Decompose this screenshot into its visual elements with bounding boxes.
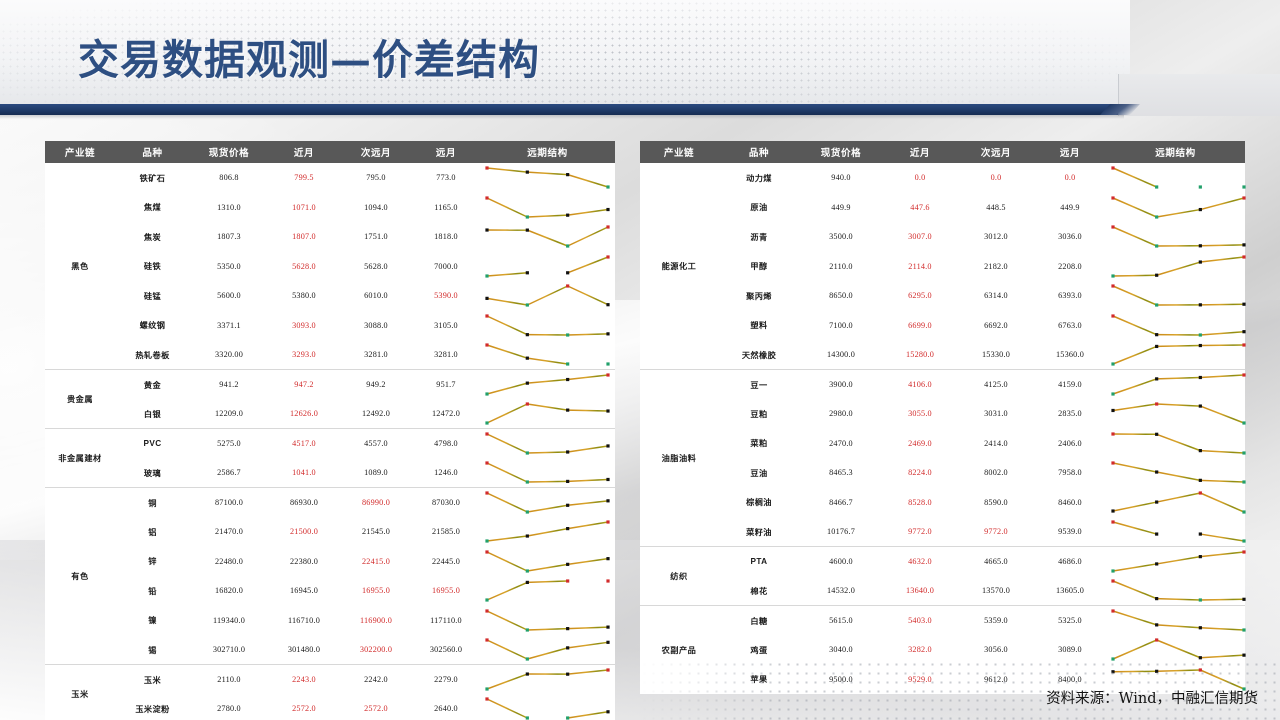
variety-cell: 黄金 [115, 370, 190, 400]
spot-price-cell: 2586.7 [190, 458, 268, 488]
table-row[interactable]: 豆油8465.38224.08002.07958.0 [640, 458, 1245, 488]
second-far-month-cell: 6010.0 [340, 281, 412, 311]
near-month-cell: 6699.0 [882, 311, 958, 341]
table-row[interactable]: 玉米玉米2110.02243.02242.02279.0 [45, 665, 615, 695]
far-month-cell: 6393.0 [1034, 281, 1106, 311]
variety-cell: 铁矿石 [115, 163, 190, 193]
far-month-cell: 449.9 [1034, 193, 1106, 223]
col-header-mid: 次远月 [340, 141, 412, 163]
forward-structure-sparkline [1106, 635, 1245, 665]
spot-price-cell: 5615.0 [800, 606, 882, 636]
second-far-month-cell: 13570.0 [958, 576, 1034, 606]
far-month-cell: 5325.0 [1034, 606, 1106, 636]
forward-structure-sparkline [480, 606, 615, 636]
far-month-cell: 1818.0 [412, 222, 480, 252]
second-far-month-cell: 8590.0 [958, 488, 1034, 518]
table-body-left: 黑色铁矿石806.8799.5795.0773.0焦煤1310.01071.01… [45, 163, 615, 720]
second-far-month-cell: 116900.0 [340, 606, 412, 636]
spot-price-cell: 302710.0 [190, 635, 268, 665]
table-row[interactable]: 热轧卷板3320.003293.03281.03281.0 [45, 340, 615, 370]
variety-cell: 菜粕 [718, 429, 800, 459]
near-month-cell: 2243.0 [268, 665, 340, 695]
industry-chain-cell: 非金属建材 [45, 429, 115, 488]
table-row[interactable]: 焦炭1807.31807.01751.01818.0 [45, 222, 615, 252]
industry-chain-cell: 纺织 [640, 547, 718, 606]
near-month-cell: 4517.0 [268, 429, 340, 459]
second-far-month-cell: 12492.0 [340, 399, 412, 429]
table-row[interactable]: 铝21470.021500.021545.021585.0 [45, 517, 615, 547]
source-note: 资料来源：Wind，中融汇信期货 [1046, 687, 1258, 708]
variety-cell: 棕榈油 [718, 488, 800, 518]
forward-structure-sparkline [1106, 576, 1245, 606]
spot-price-cell: 14300.0 [800, 340, 882, 370]
near-month-cell: 1071.0 [268, 193, 340, 223]
variety-cell: 铅 [115, 576, 190, 606]
variety-cell: 聚丙烯 [718, 281, 800, 311]
price-spread-table-right: 产业链 品种 现货价格 近月 次远月 远月 远期结构 能源化工动力煤940.00… [640, 141, 1245, 694]
table-body-right: 能源化工动力煤940.00.00.00.0原油449.9447.6448.544… [640, 163, 1245, 694]
table-row[interactable]: 塑料7100.06699.06692.06763.0 [640, 311, 1245, 341]
near-month-cell: 3282.0 [882, 635, 958, 665]
variety-cell: 动力煤 [718, 163, 800, 193]
variety-cell: 铝 [115, 517, 190, 547]
near-month-cell: 3093.0 [268, 311, 340, 341]
forward-structure-sparkline [1106, 547, 1245, 577]
far-month-cell: 16955.0 [412, 576, 480, 606]
second-far-month-cell: 1094.0 [340, 193, 412, 223]
col-header-forward-structure: 远期结构 [480, 141, 615, 163]
far-month-cell: 15360.0 [1034, 340, 1106, 370]
far-month-cell: 3105.0 [412, 311, 480, 341]
second-far-month-cell: 795.0 [340, 163, 412, 193]
far-month-cell: 951.7 [412, 370, 480, 400]
variety-cell: 硅铁 [115, 252, 190, 282]
second-far-month-cell: 2182.0 [958, 252, 1034, 282]
near-month-cell: 799.5 [268, 163, 340, 193]
far-month-cell: 2208.0 [1034, 252, 1106, 282]
variety-cell: 天然橡胶 [718, 340, 800, 370]
forward-structure-sparkline [480, 340, 615, 370]
table-row[interactable]: 菜籽油10176.79772.09772.09539.0 [640, 517, 1245, 547]
second-far-month-cell: 22415.0 [340, 547, 412, 577]
spot-price-cell: 1310.0 [190, 193, 268, 223]
variety-cell: 镍 [115, 606, 190, 636]
near-month-cell: 4632.0 [882, 547, 958, 577]
variety-cell: 白银 [115, 399, 190, 429]
col-header-chain: 产业链 [640, 141, 718, 163]
table-row[interactable]: 硅铁5350.05628.05628.07000.0 [45, 252, 615, 282]
table-row[interactable]: 能源化工动力煤940.00.00.00.0 [640, 163, 1245, 193]
far-month-cell: 7958.0 [1034, 458, 1106, 488]
forward-structure-sparkline [1106, 311, 1245, 341]
near-month-cell: 8224.0 [882, 458, 958, 488]
forward-structure-sparkline [480, 635, 615, 665]
spot-price-cell: 5275.0 [190, 429, 268, 459]
far-month-cell: 3281.0 [412, 340, 480, 370]
variety-cell: 硅锰 [115, 281, 190, 311]
spot-price-cell: 3371.1 [190, 311, 268, 341]
far-month-cell: 8460.0 [1034, 488, 1106, 518]
col-header-spot: 现货价格 [190, 141, 268, 163]
forward-structure-sparkline [1106, 252, 1245, 282]
variety-cell: 螺纹钢 [115, 311, 190, 341]
second-far-month-cell: 1751.0 [340, 222, 412, 252]
industry-chain-cell: 玉米 [45, 665, 115, 720]
header-step-block [1118, 74, 1280, 116]
forward-structure-sparkline [480, 222, 615, 252]
forward-structure-sparkline [480, 399, 615, 429]
second-far-month-cell: 4557.0 [340, 429, 412, 459]
variety-cell: PTA [718, 547, 800, 577]
forward-structure-sparkline [480, 547, 615, 577]
forward-structure-sparkline [1106, 193, 1245, 223]
near-month-cell: 86930.0 [268, 488, 340, 518]
variety-cell: 鸡蛋 [718, 635, 800, 665]
col-header-near: 近月 [882, 141, 958, 163]
second-far-month-cell: 3281.0 [340, 340, 412, 370]
table-row[interactable]: 有色铜87100.086930.086990.087030.0 [45, 488, 615, 518]
far-month-cell: 6763.0 [1034, 311, 1106, 341]
spot-price-cell: 14532.0 [800, 576, 882, 606]
variety-cell: 玉米淀粉 [115, 694, 190, 720]
spot-price-cell: 9500.0 [800, 665, 882, 695]
near-month-cell: 2114.0 [882, 252, 958, 282]
table-row[interactable]: 镍119340.0116710.0116900.0117110.0 [45, 606, 615, 636]
variety-cell: 甲醇 [718, 252, 800, 282]
variety-cell: 玻璃 [115, 458, 190, 488]
far-month-cell: 2835.0 [1034, 399, 1106, 429]
variety-cell: 锡 [115, 635, 190, 665]
table-row[interactable]: 纺织PTA4600.04632.04665.04686.0 [640, 547, 1245, 577]
table-row[interactable]: 天然橡胶14300.015280.015330.015360.0 [640, 340, 1245, 370]
spot-price-cell: 2110.0 [800, 252, 882, 282]
table-row[interactable]: 鸡蛋3040.03282.03056.03089.0 [640, 635, 1245, 665]
variety-cell: 沥青 [718, 222, 800, 252]
second-far-month-cell: 2572.0 [340, 694, 412, 720]
far-month-cell: 117110.0 [412, 606, 480, 636]
table-row[interactable]: 棉花14532.013640.013570.013605.0 [640, 576, 1245, 606]
second-far-month-cell: 15330.0 [958, 340, 1034, 370]
second-far-month-cell: 1089.0 [340, 458, 412, 488]
second-far-month-cell: 16955.0 [340, 576, 412, 606]
near-month-cell: 2572.0 [268, 694, 340, 720]
table-row[interactable]: 非金属建材PVC5275.04517.04557.04798.0 [45, 429, 615, 459]
col-header-variety: 品种 [718, 141, 800, 163]
spot-price-cell: 2980.0 [800, 399, 882, 429]
variety-cell: 豆一 [718, 370, 800, 400]
table-row[interactable]: 玉米淀粉2780.02572.02572.02640.0 [45, 694, 615, 720]
variety-cell: 棉花 [718, 576, 800, 606]
spot-price-cell: 3900.0 [800, 370, 882, 400]
far-month-cell: 2406.0 [1034, 429, 1106, 459]
forward-structure-sparkline [480, 311, 615, 341]
variety-cell: 焦炭 [115, 222, 190, 252]
forward-structure-sparkline [1106, 281, 1245, 311]
near-month-cell: 6295.0 [882, 281, 958, 311]
second-far-month-cell: 0.0 [958, 163, 1034, 193]
table-row[interactable]: 铅16820.016945.016955.016955.0 [45, 576, 615, 606]
second-far-month-cell: 5628.0 [340, 252, 412, 282]
forward-structure-sparkline [480, 665, 615, 695]
variety-cell: 热轧卷板 [115, 340, 190, 370]
page-title: 交易数据观测—价差结构 [78, 36, 540, 84]
far-month-cell: 9539.0 [1034, 517, 1106, 547]
col-header-variety: 品种 [115, 141, 190, 163]
forward-structure-sparkline [480, 429, 615, 459]
far-month-cell: 773.0 [412, 163, 480, 193]
second-far-month-cell: 21545.0 [340, 517, 412, 547]
table-row[interactable]: 螺纹钢3371.13093.03088.03105.0 [45, 311, 615, 341]
variety-cell: 玉米 [115, 665, 190, 695]
table-row[interactable]: 玻璃2586.71041.01089.01246.0 [45, 458, 615, 488]
second-far-month-cell: 2242.0 [340, 665, 412, 695]
table-row[interactable]: 硅锰5600.05380.06010.05390.0 [45, 281, 615, 311]
spot-price-cell: 2110.0 [190, 665, 268, 695]
forward-structure-sparkline [480, 193, 615, 223]
forward-structure-sparkline [1106, 163, 1245, 193]
far-month-cell: 13605.0 [1034, 576, 1106, 606]
spot-price-cell: 806.8 [190, 163, 268, 193]
far-month-cell: 4686.0 [1034, 547, 1106, 577]
near-month-cell: 4106.0 [882, 370, 958, 400]
industry-chain-cell: 黑色 [45, 163, 115, 370]
near-month-cell: 2469.0 [882, 429, 958, 459]
far-month-cell: 21585.0 [412, 517, 480, 547]
near-month-cell: 5380.0 [268, 281, 340, 311]
table-row[interactable]: 油脂油料豆一3900.04106.04125.04159.0 [640, 370, 1245, 400]
table-row[interactable]: 农副产品白糖5615.05403.05359.05325.0 [640, 606, 1245, 636]
spot-price-cell: 7100.0 [800, 311, 882, 341]
forward-structure-sparkline [1106, 340, 1245, 370]
spot-price-cell: 1807.3 [190, 222, 268, 252]
variety-cell: 铜 [115, 488, 190, 518]
near-month-cell: 9529.0 [882, 665, 958, 695]
spot-price-cell: 12209.0 [190, 399, 268, 429]
second-far-month-cell: 448.5 [958, 193, 1034, 223]
second-far-month-cell: 3056.0 [958, 635, 1034, 665]
near-month-cell: 1041.0 [268, 458, 340, 488]
spot-price-cell: 3500.0 [800, 222, 882, 252]
variety-cell: 苹果 [718, 665, 800, 695]
second-far-month-cell: 6692.0 [958, 311, 1034, 341]
second-far-month-cell: 3088.0 [340, 311, 412, 341]
spot-price-cell: 940.0 [800, 163, 882, 193]
table-header-right: 产业链 品种 现货价格 近月 次远月 远月 远期结构 [640, 141, 1245, 163]
spot-price-cell: 3320.00 [190, 340, 268, 370]
variety-cell: 豆油 [718, 458, 800, 488]
forward-structure-sparkline [1106, 458, 1245, 488]
near-month-cell: 0.0 [882, 163, 958, 193]
second-far-month-cell: 9772.0 [958, 517, 1034, 547]
near-month-cell: 947.2 [268, 370, 340, 400]
forward-structure-sparkline [480, 517, 615, 547]
forward-structure-sparkline [1106, 399, 1245, 429]
near-month-cell: 9772.0 [882, 517, 958, 547]
near-month-cell: 1807.0 [268, 222, 340, 252]
col-header-far: 远月 [412, 141, 480, 163]
table-row[interactable]: 沥青3500.03007.03012.03036.0 [640, 222, 1245, 252]
col-header-mid: 次远月 [958, 141, 1034, 163]
near-month-cell: 12626.0 [268, 399, 340, 429]
near-month-cell: 5403.0 [882, 606, 958, 636]
far-month-cell: 5390.0 [412, 281, 480, 311]
near-month-cell: 3055.0 [882, 399, 958, 429]
spot-price-cell: 8466.7 [800, 488, 882, 518]
far-month-cell: 1246.0 [412, 458, 480, 488]
table-row[interactable]: 锡302710.0301480.0302200.0302560.0 [45, 635, 615, 665]
variety-cell: 焦煤 [115, 193, 190, 223]
near-month-cell: 21500.0 [268, 517, 340, 547]
second-far-month-cell: 9612.0 [958, 665, 1034, 695]
spot-price-cell: 941.2 [190, 370, 268, 400]
far-month-cell: 302560.0 [412, 635, 480, 665]
forward-structure-sparkline [480, 370, 615, 400]
table-row[interactable]: 白银12209.012626.012492.012472.0 [45, 399, 615, 429]
near-month-cell: 3293.0 [268, 340, 340, 370]
spot-price-cell: 449.9 [800, 193, 882, 223]
second-far-month-cell: 4665.0 [958, 547, 1034, 577]
far-month-cell: 3089.0 [1034, 635, 1106, 665]
second-far-month-cell: 4125.0 [958, 370, 1034, 400]
spot-price-cell: 3040.0 [800, 635, 882, 665]
near-month-cell: 3007.0 [882, 222, 958, 252]
far-month-cell: 12472.0 [412, 399, 480, 429]
far-month-cell: 7000.0 [412, 252, 480, 282]
col-header-spot: 现货价格 [800, 141, 882, 163]
industry-chain-cell: 农副产品 [640, 606, 718, 695]
far-month-cell: 2640.0 [412, 694, 480, 720]
variety-cell: 锌 [115, 547, 190, 577]
forward-structure-sparkline [480, 163, 615, 193]
col-header-far: 远月 [1034, 141, 1106, 163]
forward-structure-sparkline [480, 281, 615, 311]
table-row[interactable]: 菜粕2470.02469.02414.02406.0 [640, 429, 1245, 459]
forward-structure-sparkline [1106, 517, 1245, 547]
table-header-left: 产业链 品种 现货价格 近月 次远月 远月 远期结构 [45, 141, 615, 163]
spot-price-cell: 8465.3 [800, 458, 882, 488]
table-row[interactable]: 原油449.9447.6448.5449.9 [640, 193, 1245, 223]
second-far-month-cell: 2414.0 [958, 429, 1034, 459]
spot-price-cell: 2470.0 [800, 429, 882, 459]
variety-cell: 白糖 [718, 606, 800, 636]
forward-structure-sparkline [480, 458, 615, 488]
variety-cell: PVC [115, 429, 190, 459]
far-month-cell: 87030.0 [412, 488, 480, 518]
spot-price-cell: 22480.0 [190, 547, 268, 577]
near-month-cell: 116710.0 [268, 606, 340, 636]
industry-chain-cell: 能源化工 [640, 163, 718, 370]
second-far-month-cell: 5359.0 [958, 606, 1034, 636]
second-far-month-cell: 8002.0 [958, 458, 1034, 488]
spot-price-cell: 10176.7 [800, 517, 882, 547]
forward-structure-sparkline [480, 694, 615, 720]
variety-cell: 菜籽油 [718, 517, 800, 547]
near-month-cell: 13640.0 [882, 576, 958, 606]
spot-price-cell: 4600.0 [800, 547, 882, 577]
far-month-cell: 3036.0 [1034, 222, 1106, 252]
near-month-cell: 8528.0 [882, 488, 958, 518]
table-row[interactable]: 甲醇2110.02114.02182.02208.0 [640, 252, 1245, 282]
far-month-cell: 4159.0 [1034, 370, 1106, 400]
spot-price-cell: 5350.0 [190, 252, 268, 282]
table-row[interactable]: 贵金属黄金941.2947.2949.2951.7 [45, 370, 615, 400]
forward-structure-sparkline [480, 252, 615, 282]
industry-chain-cell: 有色 [45, 488, 115, 665]
second-far-month-cell: 302200.0 [340, 635, 412, 665]
spot-price-cell: 16820.0 [190, 576, 268, 606]
col-header-chain: 产业链 [45, 141, 115, 163]
spot-price-cell: 119340.0 [190, 606, 268, 636]
near-month-cell: 447.6 [882, 193, 958, 223]
industry-chain-cell: 贵金属 [45, 370, 115, 429]
header-accent-rule [0, 104, 1118, 115]
table-row[interactable]: 锌22480.022380.022415.022445.0 [45, 547, 615, 577]
far-month-cell: 22445.0 [412, 547, 480, 577]
second-far-month-cell: 949.2 [340, 370, 412, 400]
near-month-cell: 16945.0 [268, 576, 340, 606]
col-header-near: 近月 [268, 141, 340, 163]
far-month-cell: 2279.0 [412, 665, 480, 695]
far-month-cell: 1165.0 [412, 193, 480, 223]
near-month-cell: 15280.0 [882, 340, 958, 370]
spot-price-cell: 5600.0 [190, 281, 268, 311]
second-far-month-cell: 3031.0 [958, 399, 1034, 429]
table-row[interactable]: 豆粕2980.03055.03031.02835.0 [640, 399, 1245, 429]
forward-structure-sparkline [480, 576, 615, 606]
forward-structure-sparkline [1106, 606, 1245, 636]
forward-structure-sparkline [1106, 429, 1245, 459]
table-row[interactable]: 黑色铁矿石806.8799.5795.0773.0 [45, 163, 615, 193]
near-month-cell: 22380.0 [268, 547, 340, 577]
col-header-forward-structure: 远期结构 [1106, 141, 1245, 163]
table-row[interactable]: 聚丙烯8650.06295.06314.06393.0 [640, 281, 1245, 311]
forward-structure-sparkline [1106, 222, 1245, 252]
spot-price-cell: 2780.0 [190, 694, 268, 720]
second-far-month-cell: 86990.0 [340, 488, 412, 518]
far-month-cell: 4798.0 [412, 429, 480, 459]
forward-structure-sparkline [1106, 370, 1245, 400]
variety-cell: 豆粕 [718, 399, 800, 429]
spot-price-cell: 87100.0 [190, 488, 268, 518]
variety-cell: 塑料 [718, 311, 800, 341]
industry-chain-cell: 油脂油料 [640, 370, 718, 547]
forward-structure-sparkline [480, 488, 615, 518]
price-spread-table-left: 产业链 品种 现货价格 近月 次远月 远月 远期结构 黑色铁矿石806.8799… [45, 141, 615, 720]
table-row[interactable]: 焦煤1310.01071.01094.01165.0 [45, 193, 615, 223]
spot-price-cell: 21470.0 [190, 517, 268, 547]
spot-price-cell: 8650.0 [800, 281, 882, 311]
second-far-month-cell: 6314.0 [958, 281, 1034, 311]
forward-structure-sparkline [1106, 488, 1245, 518]
header-rule-shadow [0, 115, 1124, 119]
table-row[interactable]: 棕榈油8466.78528.08590.08460.0 [640, 488, 1245, 518]
variety-cell: 原油 [718, 193, 800, 223]
near-month-cell: 5628.0 [268, 252, 340, 282]
far-month-cell: 0.0 [1034, 163, 1106, 193]
second-far-month-cell: 3012.0 [958, 222, 1034, 252]
near-month-cell: 301480.0 [268, 635, 340, 665]
